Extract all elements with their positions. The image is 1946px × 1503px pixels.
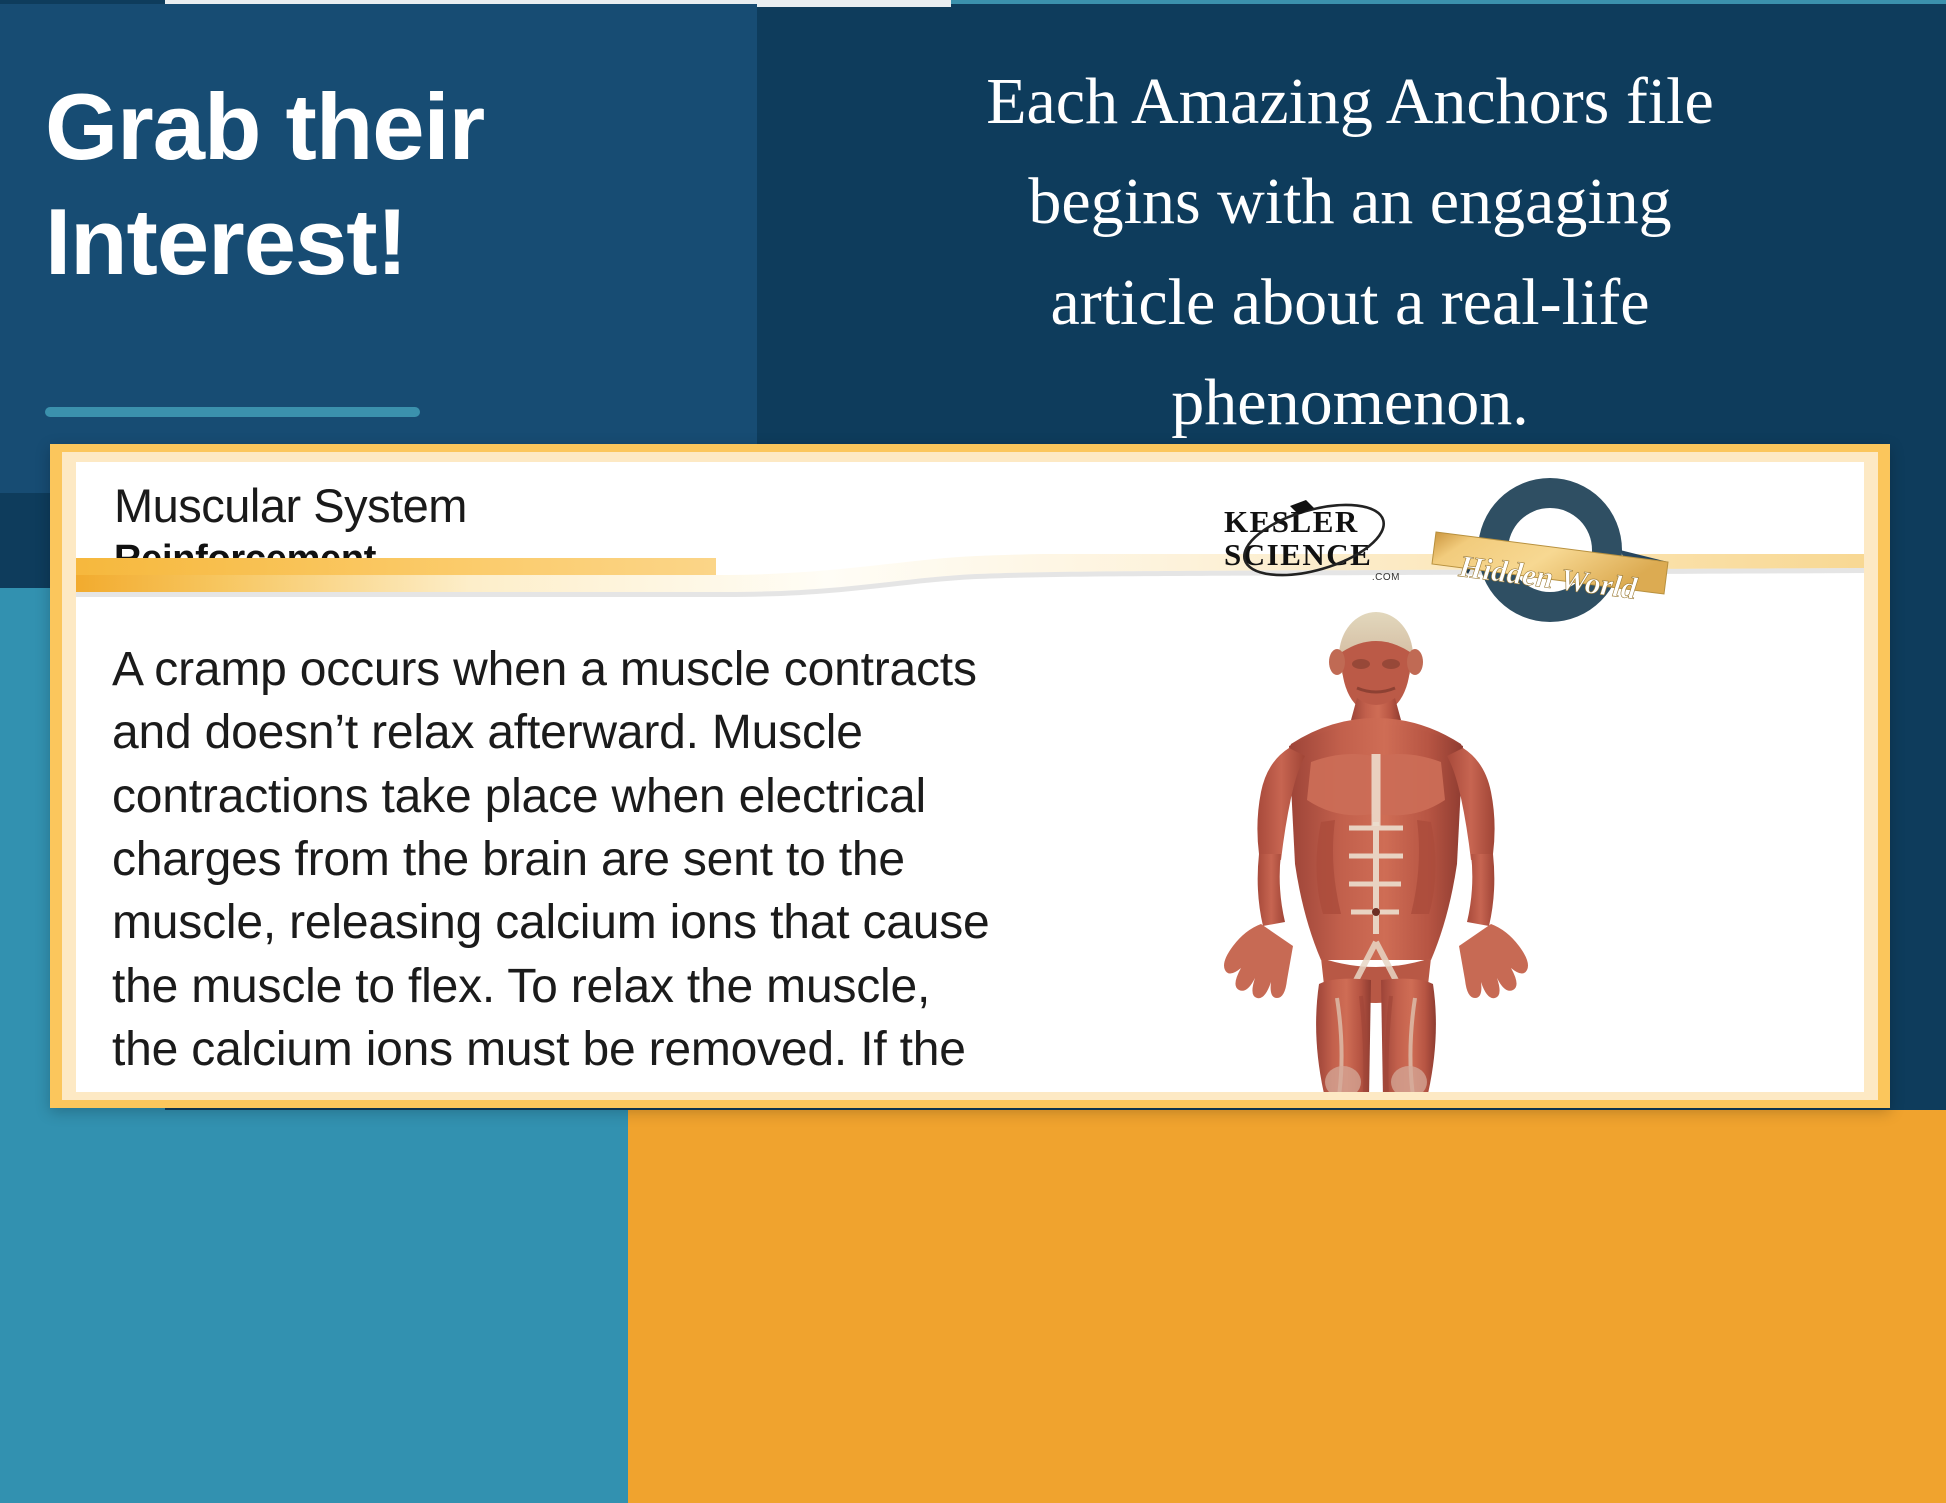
caption-line-3: article about a real-life <box>790 253 1910 353</box>
hidden-world-badge: Science Beyond Our Sight Hidden World <box>1406 470 1696 630</box>
slide-canvas: Grab their Interest! Each Amazing Anchor… <box>0 0 1946 1503</box>
slide-caption: Each Amazing Anchors file begins with an… <box>790 52 1910 453</box>
caption-line-2: begins with an engaging <box>790 152 1910 252</box>
headline-line-2: Interest! <box>45 185 725 300</box>
headline-underline-rule <box>45 407 420 417</box>
caption-line-4: phenomenon. <box>790 353 1910 453</box>
slide-headline: Grab their Interest! <box>45 70 725 299</box>
headline-line-1: Grab their <box>45 70 725 185</box>
caption-line-1: Each Amazing Anchors file <box>790 52 1910 152</box>
kesler-science-logo: KESLER SCIENCE .COM <box>1224 506 1404 596</box>
atom-swirl-icon <box>1218 492 1408 588</box>
body-line-3: contractions take place when electrical <box>112 765 1122 828</box>
body-line-6: the muscle to flex. To relax the muscle, <box>112 955 1122 1018</box>
bottom-left-teal-block <box>0 1110 628 1503</box>
top-edge-strip-teal <box>951 0 1946 4</box>
body-line-8: calcium ions cannot be removed quickly <box>112 1082 1122 1092</box>
worksheet-page: Muscular System Reinforcement <box>76 462 1864 1092</box>
worksheet-subtitle: Reinforcement <box>114 538 376 581</box>
bottom-right-orange-block <box>628 1110 1946 1503</box>
muscular-system-figure <box>1161 612 1591 1092</box>
body-line-5: muscle, releasing calcium ions that caus… <box>112 891 1122 954</box>
worksheet-card[interactable]: Muscular System Reinforcement <box>50 444 1890 1108</box>
body-line-2: and doesn’t relax afterward. Muscle <box>112 701 1122 764</box>
body-line-4: charges from the brain are sent to the <box>112 828 1122 891</box>
body-line-1: A cramp occurs when a muscle contracts <box>112 638 1122 701</box>
worksheet-body-text: A cramp occurs when a muscle contracts a… <box>112 638 1122 1092</box>
worksheet-title: Muscular System <box>114 478 467 533</box>
body-line-7: the calcium ions must be removed. If the <box>112 1018 1122 1081</box>
worksheet-card-inner-border: Muscular System Reinforcement <box>62 452 1878 1100</box>
